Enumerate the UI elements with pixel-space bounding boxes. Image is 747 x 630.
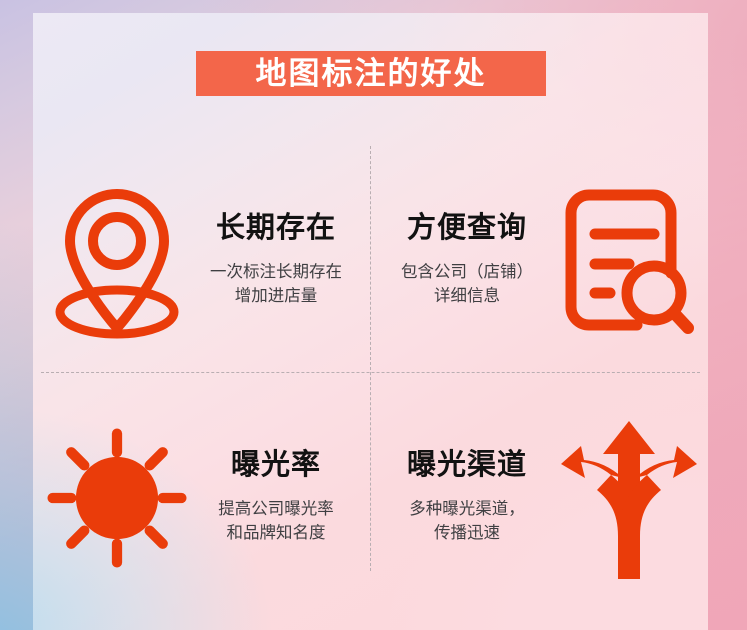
- feature-item-easy-query: 方便查询 包含公司（店铺） 详细信息: [377, 161, 699, 361]
- three-way-arrow-icon: [559, 416, 699, 581]
- feature-heading: 曝光率: [231, 450, 321, 482]
- feature-subtitle: 多种曝光渠道， 传播迅速: [409, 498, 525, 546]
- feature-text-exposure-channel: 曝光渠道 多种曝光渠道， 传播迅速: [377, 450, 559, 546]
- feature-subtitle-line-2: 传播迅速: [409, 522, 525, 546]
- page-title: 地图标注的好处: [256, 58, 487, 89]
- poster-root: 地图标注的好处 长期存在 一次标注长期存在: [0, 0, 747, 630]
- feature-subtitle-line-2: 和品牌知名度: [218, 522, 334, 546]
- divider-vertical: [370, 146, 371, 571]
- divider-horizontal: [41, 372, 700, 373]
- feature-subtitle-line-1: 包含公司（店铺）: [401, 261, 533, 285]
- feature-subtitle-line-1: 多种曝光渠道，: [409, 498, 525, 522]
- feature-text-easy-query: 方便查询 包含公司（店铺） 详细信息: [377, 213, 559, 309]
- document-search-icon-box: [559, 179, 699, 344]
- location-pin-icon: [52, 181, 182, 341]
- feature-heading: 长期存在: [216, 213, 336, 245]
- sun-icon: [47, 423, 187, 573]
- feature-heading: 方便查询: [407, 213, 527, 245]
- feature-subtitle-line-2: 详细信息: [401, 285, 533, 309]
- sun-icon-box: [47, 416, 187, 581]
- feature-subtitle: 包含公司（店铺） 详细信息: [401, 261, 533, 309]
- title-banner: 地图标注的好处: [196, 51, 546, 96]
- three-way-arrow-icon-box: [559, 416, 699, 581]
- feature-subtitle: 一次标注长期存在 增加进店量: [210, 261, 342, 309]
- feature-subtitle-line-1: 一次标注长期存在: [210, 261, 342, 285]
- feature-text-exposure-rate: 曝光率 提高公司曝光率 和品牌知名度: [187, 450, 365, 546]
- feature-item-exposure-channel: 曝光渠道 多种曝光渠道， 传播迅速: [377, 398, 699, 598]
- document-search-icon: [559, 181, 699, 341]
- poster-card: 地图标注的好处 长期存在 一次标注长期存在: [33, 13, 708, 630]
- feature-item-exposure-rate: 曝光率 提高公司曝光率 和品牌知名度: [47, 398, 365, 598]
- feature-subtitle-line-2: 增加进店量: [210, 285, 342, 309]
- feature-text-long-term: 长期存在 一次标注长期存在 增加进店量: [187, 213, 365, 309]
- feature-heading: 曝光渠道: [407, 450, 527, 482]
- location-pin-icon-box: [47, 179, 187, 344]
- feature-subtitle: 提高公司曝光率 和品牌知名度: [218, 498, 334, 546]
- feature-subtitle-line-1: 提高公司曝光率: [218, 498, 334, 522]
- feature-item-long-term: 长期存在 一次标注长期存在 增加进店量: [47, 161, 365, 361]
